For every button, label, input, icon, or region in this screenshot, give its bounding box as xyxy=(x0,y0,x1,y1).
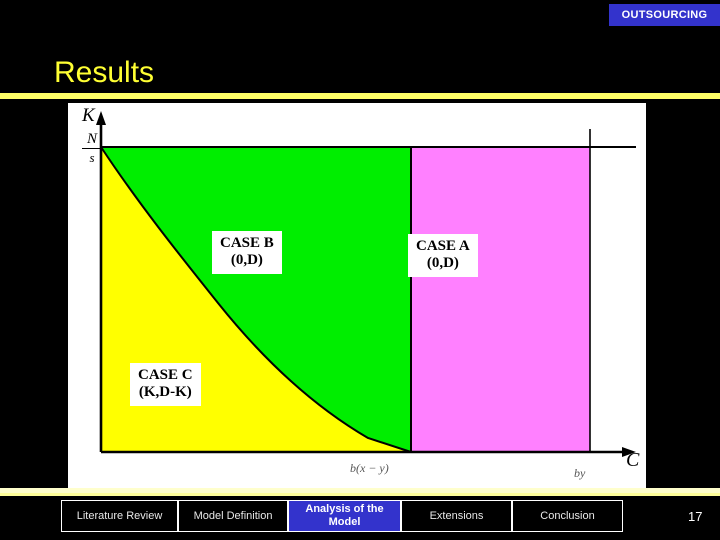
x-tick-label-by: by xyxy=(574,466,585,481)
case-b-payoff: (0,D) xyxy=(220,252,274,269)
case-a-title: CASE A xyxy=(416,238,470,255)
case-a-payoff: (0,D) xyxy=(416,255,470,272)
x-tick-label-bxy: b(x − y) xyxy=(350,461,389,476)
corner-banner-outsourcing: OUTSOURCING xyxy=(609,4,720,26)
divider-top xyxy=(0,93,720,99)
case-c-payoff: (K,D-K) xyxy=(138,384,193,401)
results-region-chart xyxy=(68,103,646,488)
chart-panel: K N s C b(x − y) by CASE B (0,D) CASE A … xyxy=(68,103,646,488)
case-c-callout: CASE C (K,D-K) xyxy=(130,363,201,406)
case-c-title: CASE C xyxy=(138,367,193,384)
y-axis-label-k: K xyxy=(82,105,95,127)
x-axis-label-c: C xyxy=(626,449,639,472)
case-b-title: CASE B xyxy=(220,235,274,252)
divider-bottom-secondary xyxy=(0,493,720,496)
nav-item-literature-review[interactable]: Literature Review xyxy=(61,500,178,532)
case-b-callout: CASE B (0,D) xyxy=(212,231,282,274)
slide-number: 17 xyxy=(688,509,702,524)
region-case-a-fill xyxy=(411,147,590,452)
nav-item-conclusion[interactable]: Conclusion xyxy=(512,500,623,532)
y-axis-label-ratio: N s xyxy=(82,132,102,165)
y-axis-arrow xyxy=(96,111,106,125)
y-axis-ratio-numerator: N xyxy=(82,132,102,149)
case-a-callout: CASE A (0,D) xyxy=(408,234,478,277)
section-navbar: Literature Review Model Definition Analy… xyxy=(0,500,720,532)
nav-item-model-definition[interactable]: Model Definition xyxy=(178,500,288,532)
y-axis-ratio-denominator: s xyxy=(82,149,102,165)
nav-item-analysis-of-the-model[interactable]: Analysis of the Model xyxy=(288,500,401,532)
page-title: Results xyxy=(54,56,154,90)
nav-item-extensions[interactable]: Extensions xyxy=(401,500,512,532)
